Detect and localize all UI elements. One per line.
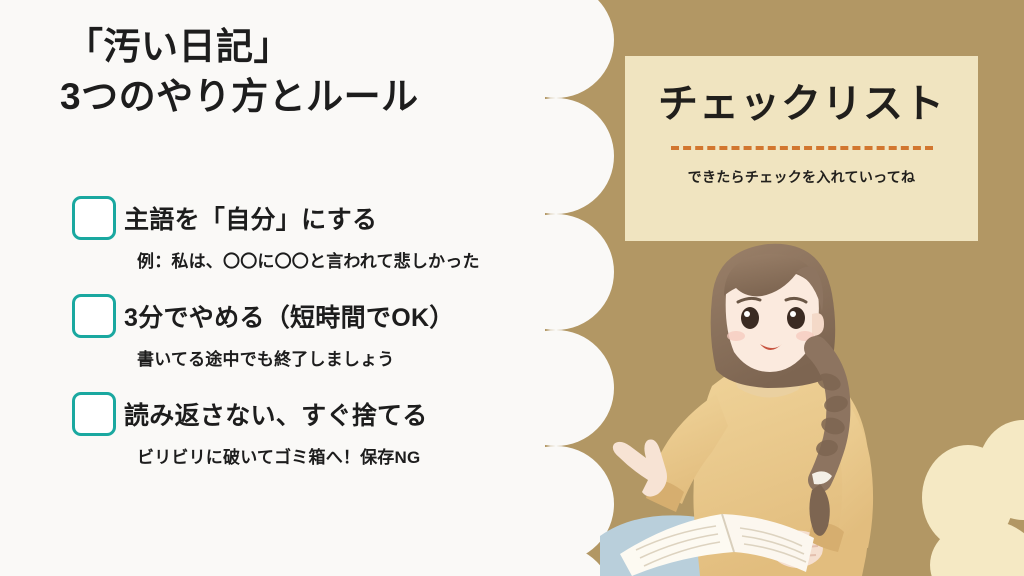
- dashed-divider: [671, 146, 933, 150]
- checklist-item-row[interactable]: 読み返さない、すぐ捨てる: [72, 392, 542, 436]
- checklist-item-row[interactable]: 3分でやめる（短時間でOK）: [72, 294, 542, 338]
- checklist-item[interactable]: 読み返さない、すぐ捨てる ビリビリに破いてゴミ箱へ！保存NG: [72, 392, 542, 468]
- title-line-1: 「汚い日記」: [60, 22, 419, 72]
- checkbox-icon[interactable]: [72, 294, 116, 338]
- checklist: 主語を「自分」にする 例：私は、〇〇に〇〇と言われて悲しかった 3分でやめる（短…: [72, 196, 542, 490]
- slide-canvas: 「汚い日記」 3つのやり方とルール 主語を「自分」にする 例：私は、〇〇に〇〇と…: [0, 0, 1024, 576]
- checkbox-icon[interactable]: [72, 196, 116, 240]
- checklist-item[interactable]: 主語を「自分」にする 例：私は、〇〇に〇〇と言われて悲しかった: [72, 196, 542, 272]
- checklist-item-sublabel: 例：私は、〇〇に〇〇と言われて悲しかった: [137, 247, 542, 272]
- woman-pointing-with-book-illustration: [600, 236, 930, 576]
- checkbox-icon[interactable]: [72, 392, 116, 436]
- checklist-card: チェックリスト できたらチェックを入れていってね: [625, 56, 978, 241]
- card-subtitle: できたらチェックを入れていってね: [625, 167, 978, 187]
- checklist-item[interactable]: 3分でやめる（短時間でOK） 書いてる途中でも終了しましょう: [72, 294, 542, 370]
- checklist-item-sublabel: 書いてる途中でも終了しましょう: [137, 345, 542, 370]
- checklist-item-label: 主語を「自分」にする: [124, 200, 377, 236]
- checklist-item-sublabel: ビリビリに破いてゴミ箱へ！保存NG: [137, 443, 542, 468]
- title-line-2: 3つのやり方とルール: [60, 72, 419, 122]
- checklist-item-label: 読み返さない、すぐ捨てる: [124, 396, 428, 432]
- checklist-item-label: 3分でやめる（短時間でOK）: [124, 298, 455, 334]
- page-title: 「汚い日記」 3つのやり方とルール: [60, 22, 419, 123]
- checklist-item-row[interactable]: 主語を「自分」にする: [72, 196, 542, 240]
- card-title: チェックリスト: [625, 82, 978, 126]
